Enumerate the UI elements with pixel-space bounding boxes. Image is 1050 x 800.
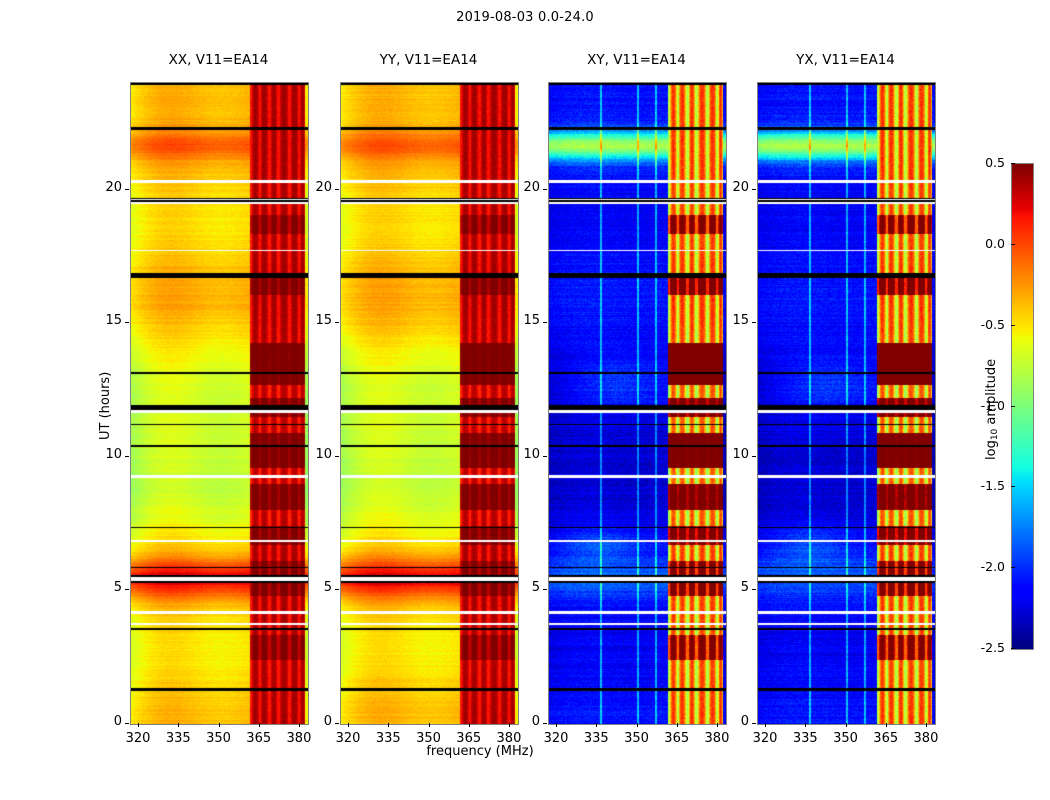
- x-tick-mark: [429, 723, 430, 727]
- x-tick-mark: [138, 723, 139, 727]
- colorbar-tick-mark: [1011, 325, 1015, 326]
- colorbar-tick-label: -1.5: [959, 478, 1005, 493]
- x-tick-mark: [886, 723, 887, 727]
- y-tick-label: 5: [711, 580, 749, 595]
- y-tick-label: 15: [502, 313, 540, 328]
- panel-title-yy: YY, V11=EA14: [340, 52, 517, 68]
- heatmap-panel-xy[interactable]: [548, 82, 727, 725]
- colorbar-tick-mark: [1011, 486, 1015, 487]
- figure-suptitle: 2019-08-03 0.0-24.0: [0, 10, 1050, 25]
- y-tick-mark: [752, 723, 756, 724]
- colorbar[interactable]: [1011, 163, 1034, 650]
- y-tick-label: 20: [711, 180, 749, 195]
- colorbar-label-tail: amplitude: [984, 359, 999, 429]
- y-tick-mark: [543, 589, 547, 590]
- y-tick-mark: [543, 189, 547, 190]
- y-tick-mark: [543, 322, 547, 323]
- colorbar-tick-label: -2.0: [959, 559, 1005, 574]
- y-tick-mark: [125, 723, 129, 724]
- heatmap-panel-xx[interactable]: [130, 82, 309, 725]
- panel-title-xx: XX, V11=EA14: [130, 52, 307, 68]
- y-tick-label: 0: [502, 714, 540, 729]
- colorbar-tick-mark: [1011, 163, 1015, 164]
- y-tick-label: 10: [711, 447, 749, 462]
- x-tick-mark: [637, 723, 638, 727]
- y-tick-mark: [752, 322, 756, 323]
- x-tick-mark: [596, 723, 597, 727]
- y-tick-mark: [752, 456, 756, 457]
- colorbar-tick-mark: [1011, 648, 1015, 649]
- x-tick-mark: [348, 723, 349, 727]
- y-axis-label: UT (hours): [98, 372, 113, 440]
- heatmap-panel-yx[interactable]: [757, 82, 936, 725]
- colorbar-tick-label: 0.5: [959, 155, 1005, 170]
- x-tick-label: 380: [901, 731, 951, 746]
- x-tick-mark: [805, 723, 806, 727]
- y-tick-mark: [335, 723, 339, 724]
- x-tick-mark: [219, 723, 220, 727]
- x-tick-label: 380: [692, 731, 742, 746]
- y-tick-mark: [752, 589, 756, 590]
- y-tick-label: 15: [84, 313, 122, 328]
- x-axis-label: frequency (MHz): [380, 744, 580, 759]
- y-tick-mark: [335, 456, 339, 457]
- colorbar-label: log10 amplitude: [984, 359, 1000, 460]
- y-tick-label: 0: [294, 714, 332, 729]
- y-tick-label: 5: [84, 580, 122, 595]
- y-tick-label: 20: [84, 180, 122, 195]
- x-tick-mark: [259, 723, 260, 727]
- y-tick-mark: [335, 189, 339, 190]
- x-tick-mark: [388, 723, 389, 727]
- x-tick-mark: [926, 723, 927, 727]
- y-tick-mark: [335, 589, 339, 590]
- y-tick-label: 0: [711, 714, 749, 729]
- colorbar-tick-mark: [1011, 244, 1015, 245]
- panel-title-xy: XY, V11=EA14: [548, 52, 725, 68]
- y-tick-label: 10: [84, 447, 122, 462]
- x-tick-mark: [178, 723, 179, 727]
- x-tick-mark: [556, 723, 557, 727]
- x-tick-mark: [677, 723, 678, 727]
- x-tick-mark: [765, 723, 766, 727]
- y-tick-mark: [125, 589, 129, 590]
- y-tick-mark: [543, 723, 547, 724]
- y-tick-label: 10: [502, 447, 540, 462]
- y-tick-label: 20: [294, 180, 332, 195]
- y-tick-mark: [543, 456, 547, 457]
- y-tick-label: 5: [294, 580, 332, 595]
- colorbar-tick-mark: [1011, 406, 1015, 407]
- y-tick-label: 10: [294, 447, 332, 462]
- y-tick-label: 15: [711, 313, 749, 328]
- colorbar-tick-label: -2.5: [959, 640, 1005, 655]
- y-tick-mark: [752, 189, 756, 190]
- y-tick-label: 15: [294, 313, 332, 328]
- y-tick-mark: [335, 322, 339, 323]
- y-tick-label: 5: [502, 580, 540, 595]
- y-tick-mark: [125, 456, 129, 457]
- y-tick-mark: [125, 322, 129, 323]
- y-tick-label: 0: [84, 714, 122, 729]
- colorbar-label-main: log: [984, 440, 999, 460]
- y-tick-label: 20: [502, 180, 540, 195]
- panel-title-yx: YX, V11=EA14: [757, 52, 934, 68]
- colorbar-tick-mark: [1011, 567, 1015, 568]
- x-tick-mark: [846, 723, 847, 727]
- x-tick-mark: [469, 723, 470, 727]
- heatmap-panel-yy[interactable]: [340, 82, 519, 725]
- figure-canvas: 2019-08-03 0.0-24.0 XX, V11=EA14 YY, V11…: [0, 0, 1050, 800]
- y-tick-mark: [125, 189, 129, 190]
- colorbar-label-sub: 10: [990, 429, 1000, 440]
- colorbar-tick-label: 0.0: [959, 236, 1005, 251]
- x-tick-label: 380: [274, 731, 324, 746]
- colorbar-tick-label: -0.5: [959, 317, 1005, 332]
